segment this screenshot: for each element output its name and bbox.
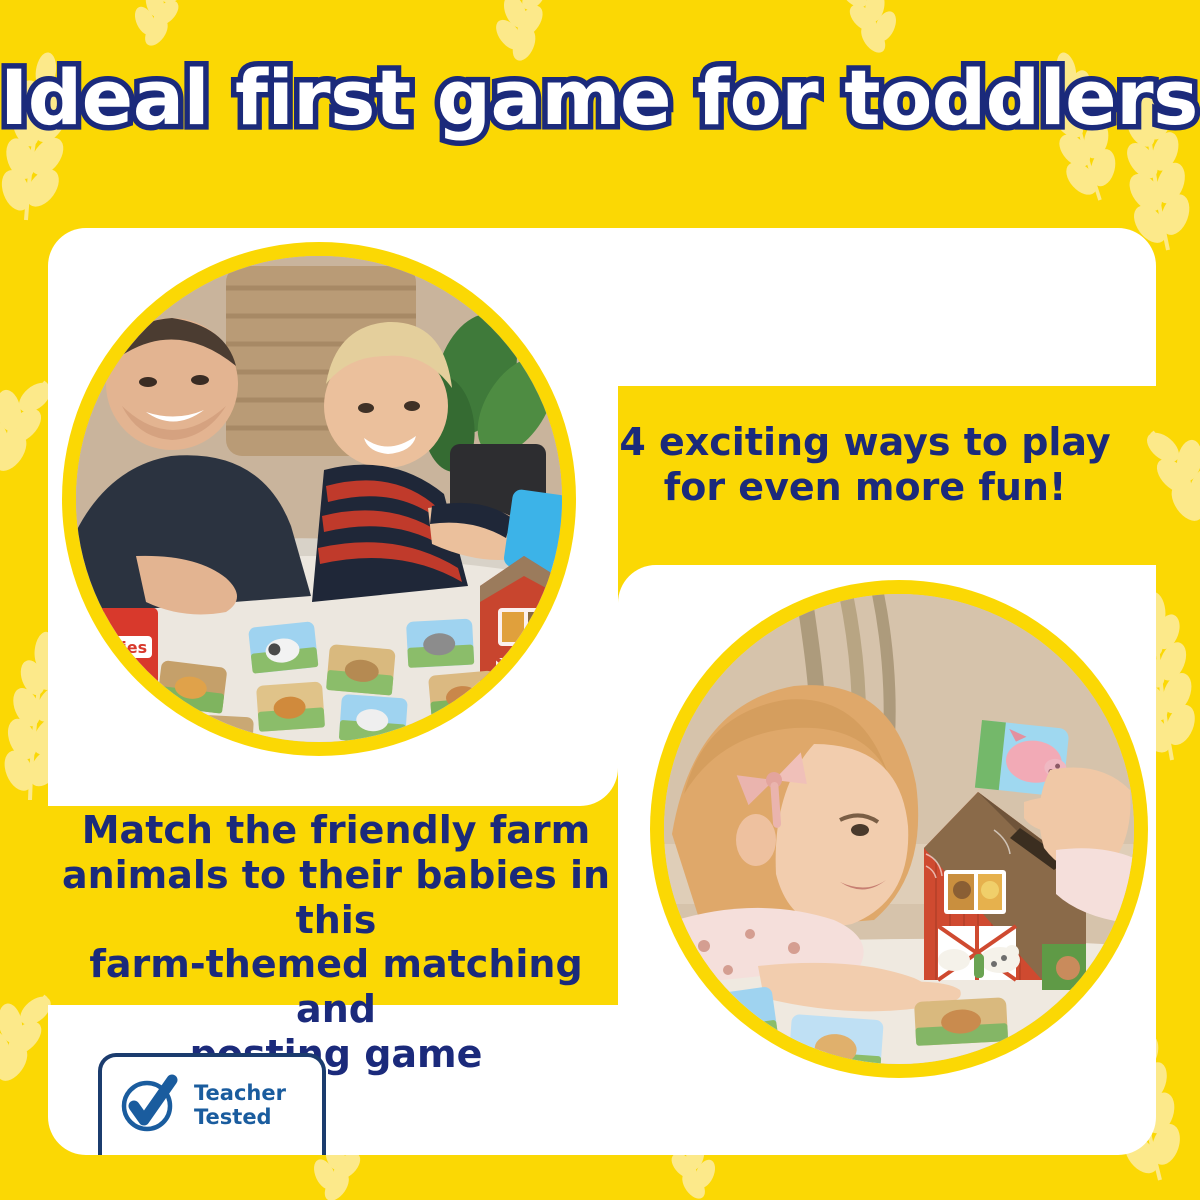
promo-graphic: Ideal first game for toddlers! 4 excitin…	[0, 0, 1200, 1200]
photo-girl-with-barn	[664, 594, 1134, 1064]
callout-ways-to-play: 4 exciting ways to play for even more fu…	[600, 420, 1130, 510]
callout-match-description: Match the friendly farm animals to their…	[56, 808, 616, 1077]
teacher-tested-label: Teacher Tested	[194, 1082, 286, 1129]
badge-line-1: Teacher	[194, 1081, 286, 1105]
headline-text: Ideal first game for toddlers!	[0, 58, 1200, 138]
teacher-tested-badge: Teacher Tested	[98, 1053, 326, 1155]
svg-text:Families: Families	[76, 638, 147, 657]
headline: Ideal first game for toddlers!	[0, 58, 1200, 138]
badge-line-2: Tested	[194, 1105, 272, 1129]
photo-father-and-toddler: Families	[76, 256, 562, 742]
circle-check-icon	[118, 1073, 180, 1139]
